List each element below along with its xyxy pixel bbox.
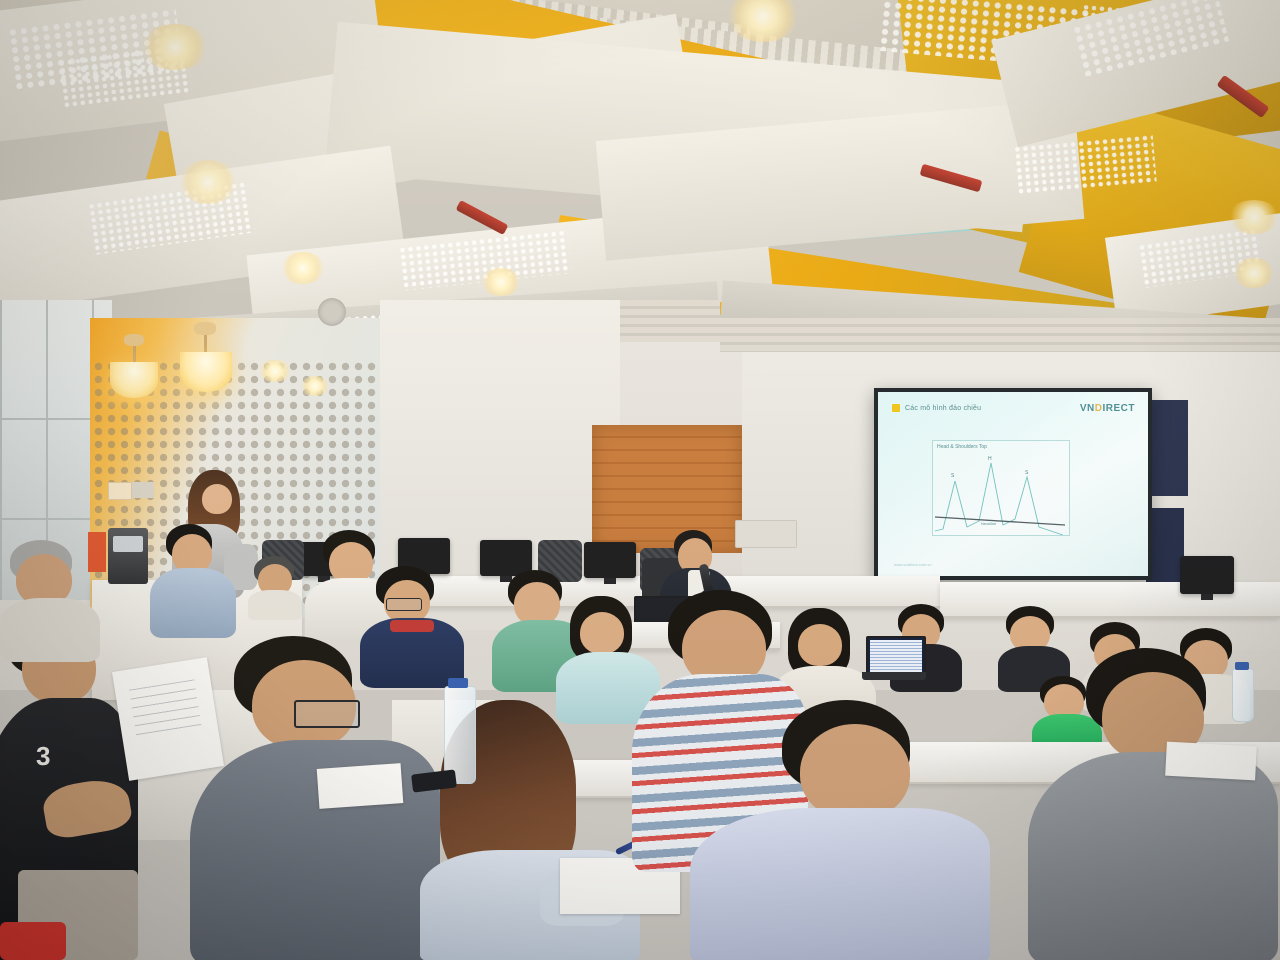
attendee-laptop-base: [862, 672, 926, 680]
notepad-right: [1165, 742, 1257, 781]
attendee-collar-red: [390, 620, 434, 632]
attendee-grey-polo: [190, 740, 440, 960]
attendee-body-light: [0, 598, 100, 662]
attendee-grey-polo-right: [1028, 648, 1278, 960]
ceiling-light-3: [280, 252, 326, 284]
pendant-cap-1: [124, 334, 144, 346]
vndirect-logo: VNDIRECT: [1080, 403, 1135, 414]
attendee-body: [248, 590, 302, 620]
slide-bullet-icon: [892, 404, 900, 412]
chart-neckline: [935, 517, 1065, 525]
ceiling-light-6: [1232, 258, 1276, 288]
chart-peak-label-left-shoulder: S: [951, 473, 954, 479]
pendant-lamp-2: [180, 352, 232, 392]
assistant-head: [202, 484, 232, 514]
slide-title-row: Các mô hình đảo chiều: [892, 404, 981, 412]
chart-neckline-label: Neckline: [981, 521, 996, 526]
navy-wall-panel-upper: [1150, 400, 1188, 496]
chart-svg: [933, 441, 1069, 535]
ceiling-light-5: [1228, 200, 1280, 234]
projection-screen: Các mô hình đảo chiều VNDIRECT Head & Sh…: [874, 388, 1152, 580]
chart-peak-label-right-shoulder: S: [1025, 470, 1028, 476]
pendant-cap-2: [194, 322, 216, 335]
notepad-left: [317, 763, 404, 809]
attendee-shirt-blue: [150, 568, 236, 638]
notice-card-1: [108, 482, 132, 500]
logo-text-left: VN: [1080, 403, 1095, 414]
attendee-head: [800, 724, 910, 820]
logo-text-d: D: [1095, 403, 1103, 414]
attendee-grey-polo: [1028, 752, 1278, 960]
photo-scene: Các mô hình đảo chiều VNDIRECT Head & Sh…: [0, 0, 1280, 960]
head-shoulders-chart: Head & Shoulders Top S H S Neckline: [932, 440, 1070, 536]
logo-text-right: IRECT: [1103, 403, 1136, 414]
attendee-laptop-screen[interactable]: [866, 636, 926, 676]
ceiling-light-1: [140, 24, 210, 70]
notice-card-2: [132, 482, 154, 498]
chart-caption: Head & Shoulders Top: [937, 444, 987, 450]
coffee-machine-panel: [113, 536, 143, 552]
attendee-glasses: [386, 598, 422, 611]
attendee-midrow-1: [150, 524, 236, 634]
attendee-glasses[interactable]: [294, 700, 360, 728]
pendant-lamp-1: [110, 362, 158, 398]
attendee-backrow-1: [248, 556, 302, 616]
ceiling-light-4: [480, 268, 522, 296]
projected-slide: Các mô hình đảo chiều VNDIRECT Head & Sh…: [878, 392, 1148, 576]
attendee-lavender-top: [690, 808, 990, 960]
monitor-4: [1180, 556, 1234, 594]
attendee-grey-hair: [0, 540, 100, 660]
wall-speaker: [318, 298, 346, 326]
wall-light-2: [300, 376, 330, 396]
tshirt-number-3: 3: [36, 742, 52, 770]
laptop-spreadsheet: [870, 640, 922, 672]
chart-peak-label-head: H: [988, 456, 992, 462]
attendee-laptop: [862, 636, 926, 684]
slide-title: Các mô hình đảo chiều: [905, 405, 981, 412]
attendee-head: [580, 612, 624, 654]
ceiling-light-7: [178, 160, 238, 204]
attendee-lavender-shirt: [690, 700, 990, 960]
slide-footer: www.vndirect.com.vn: [894, 562, 932, 567]
water-bottle-cap-centre: [448, 678, 468, 688]
wall-light-1: [258, 360, 292, 382]
red-object-foreground: [0, 922, 66, 960]
